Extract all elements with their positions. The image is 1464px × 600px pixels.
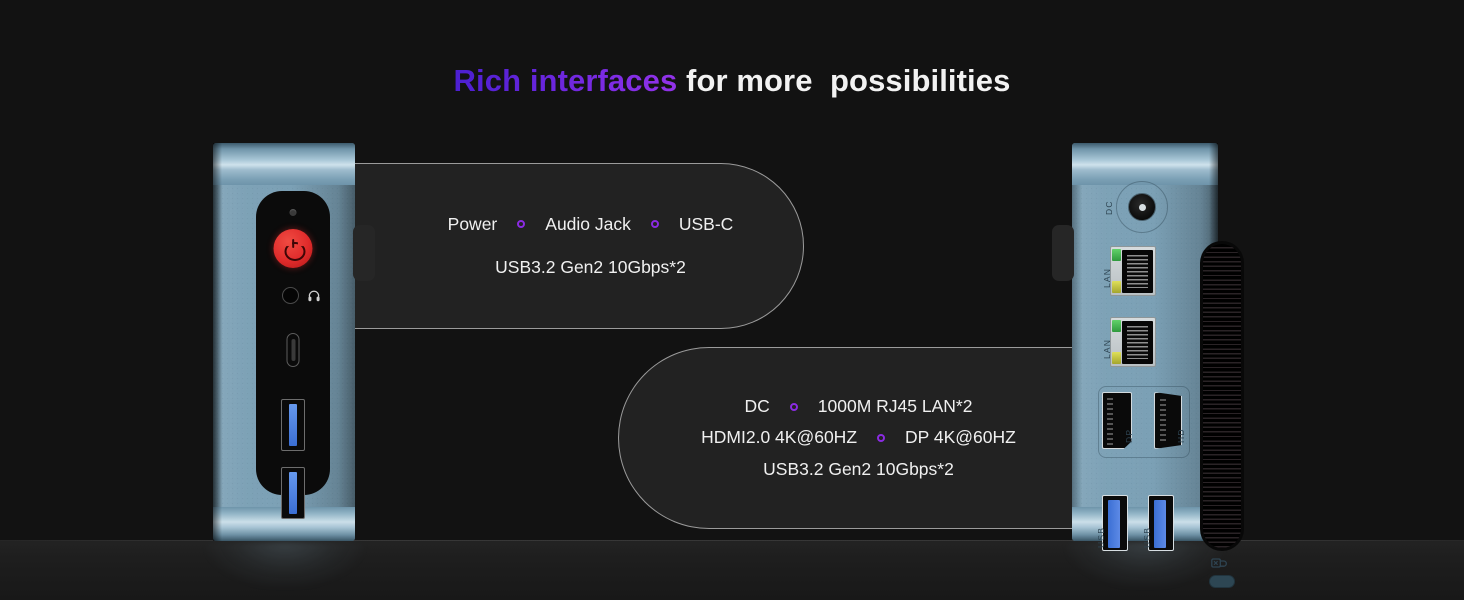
lan-led-green-icon <box>1112 320 1121 332</box>
callout-front-row-1: Power Audio Jack USB-C <box>448 215 734 234</box>
audio-jack-port[interactable] <box>282 287 299 304</box>
port-label-dc: DC <box>745 397 770 416</box>
port-label-usb32-rear: USB3.2 Gen2 10Gbps*2 <box>763 460 954 479</box>
label-dp: DP <box>1124 429 1134 443</box>
port-label-usb-c: USB-C <box>679 215 733 234</box>
product-feature-banner: Rich interfaces for more possibilities P… <box>0 0 1464 600</box>
port-label-audio-jack: Audio Jack <box>545 215 631 234</box>
status-led-icon <box>290 209 297 216</box>
chassis-top-bevel <box>1072 143 1218 185</box>
lan-led-green-icon <box>1112 249 1121 261</box>
callout-rear-row-2: HDMI2.0 4K@60HZ DP 4K@60HZ <box>701 428 1016 447</box>
label-lan-1: LAN <box>1102 268 1112 288</box>
usb-a-port-2[interactable] <box>281 467 305 519</box>
usb-a-port-1[interactable] <box>281 399 305 451</box>
bullet-dot-icon <box>517 220 525 228</box>
port-label-hdmi: HDMI2.0 4K@60HZ <box>701 428 857 447</box>
bullet-dot-icon <box>877 434 885 442</box>
chassis-side-nub <box>353 225 375 281</box>
lan-led-amber-icon <box>1112 281 1121 293</box>
power-icon <box>285 240 302 257</box>
bullet-dot-icon <box>790 403 798 411</box>
page-title: Rich interfaces for more possibilities <box>0 63 1464 99</box>
headphone-icon <box>308 289 320 302</box>
port-label-dp: DP 4K@60HZ <box>905 428 1016 447</box>
label-dc: DC <box>1104 200 1114 215</box>
ventilation-grille <box>1200 241 1244 551</box>
title-highlight: Rich interfaces <box>454 63 678 98</box>
kensington-lock-slot <box>1209 575 1235 588</box>
power-button[interactable] <box>274 229 313 268</box>
lan-port-2[interactable] <box>1110 317 1156 367</box>
rear-device-floor-glow <box>1065 542 1225 588</box>
label-usb-2: USB <box>1142 527 1152 548</box>
callout-front-row-2: USB3.2 Gen2 10Gbps*2 <box>495 258 686 277</box>
lan-led-amber-icon <box>1112 352 1121 364</box>
front-device-floor-glow <box>205 542 365 588</box>
lan-cavity-1 <box>1122 250 1153 293</box>
bullet-dot-icon <box>651 220 659 228</box>
label-hdmi: HD <box>1176 428 1186 443</box>
label-lan-2: LAN <box>1102 339 1112 359</box>
chassis-top-bevel <box>213 143 355 185</box>
chassis-side-nub <box>1052 225 1074 281</box>
usb-c-port[interactable] <box>287 333 300 367</box>
title-rest: for more possibilities <box>677 63 1010 98</box>
front-io-plate <box>256 191 330 495</box>
kensington-lock-icon <box>1211 557 1227 571</box>
callout-rear-row-3: USB3.2 Gen2 10Gbps*2 <box>763 460 954 479</box>
port-label-lan: 1000M RJ45 LAN*2 <box>818 397 973 416</box>
mini-pc-front-view <box>213 143 355 541</box>
label-usb-1: USB <box>1096 527 1106 548</box>
port-label-power: Power <box>448 215 498 234</box>
lan-cavity-2 <box>1122 321 1153 364</box>
mini-pc-rear-view: DC LAN LAN DP HD USB USB <box>1072 143 1218 541</box>
callout-rear-row-1: DC 1000M RJ45 LAN*2 <box>745 397 973 416</box>
chassis-left-edge-shadow <box>213 143 222 541</box>
dc-power-port[interactable] <box>1128 193 1156 221</box>
port-label-usb32-front: USB3.2 Gen2 10Gbps*2 <box>495 258 686 277</box>
lan-port-1[interactable] <box>1110 246 1156 296</box>
